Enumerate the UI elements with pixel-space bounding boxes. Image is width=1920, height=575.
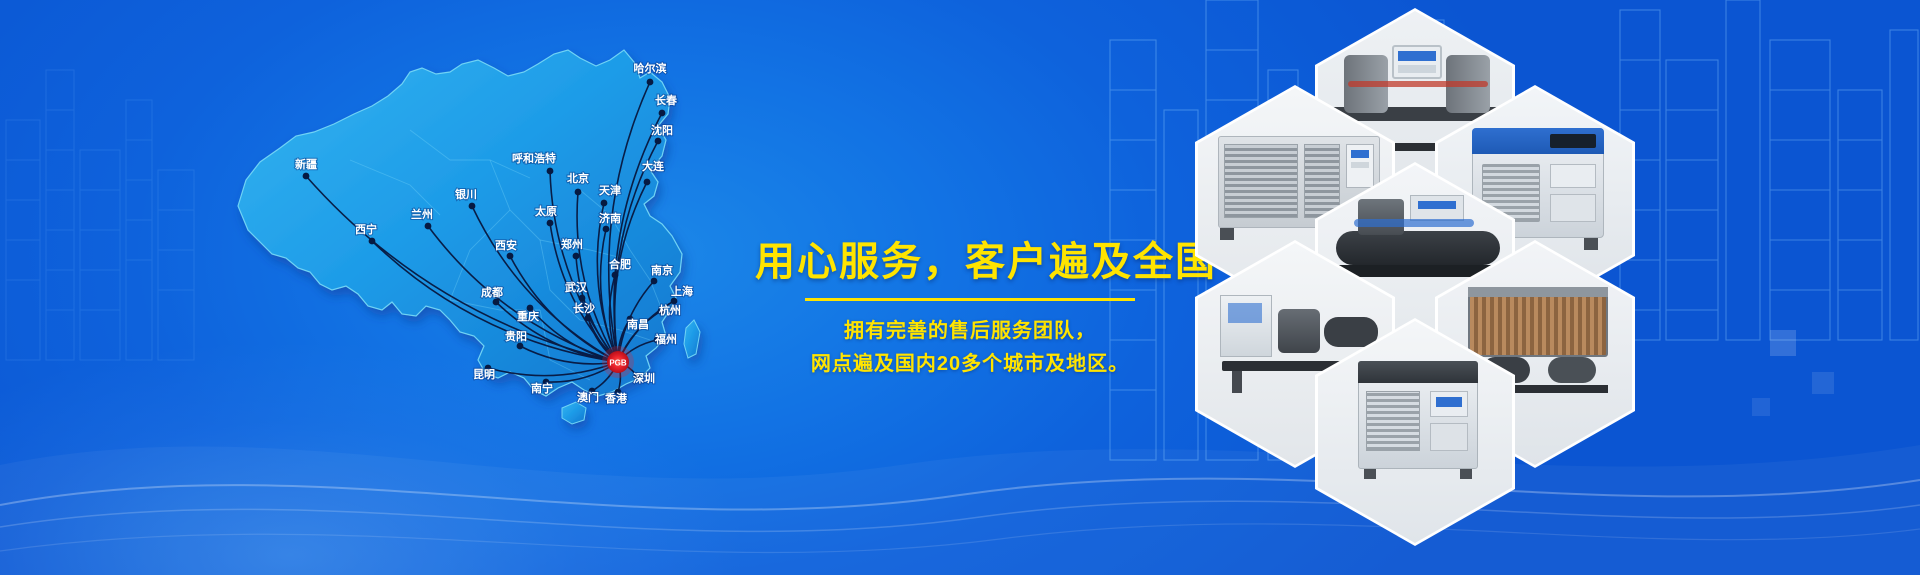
city-label: 南昌 bbox=[627, 317, 649, 331]
city-label: 杭州 bbox=[659, 303, 681, 317]
city-marker[interactable]: 杭州 bbox=[658, 303, 681, 317]
city-dot-icon bbox=[644, 179, 651, 186]
product-hexagon-gallery bbox=[1195, 0, 1915, 575]
china-map: 哈尔滨长春沈阳大连北京天津呼和浩特银川太原济南郑州西安兰州西宁新疆合肥南京武汉上… bbox=[110, 10, 730, 430]
city-label: 呼和浩特 bbox=[512, 151, 556, 165]
city-dot-icon bbox=[425, 223, 432, 230]
city-dot-icon bbox=[579, 295, 586, 302]
city-label: 南京 bbox=[651, 263, 673, 277]
city-dot-icon bbox=[547, 168, 554, 175]
city-label: 天津 bbox=[599, 183, 621, 197]
page-title: 用心服务，客户遍及全国 bbox=[755, 240, 1185, 284]
city-label: 郑州 bbox=[561, 237, 583, 251]
city-dot-icon bbox=[655, 138, 662, 145]
subtitle-line-2: 网点遍及国内20多个城市及地区。 bbox=[755, 348, 1185, 381]
city-marker[interactable]: 福州 bbox=[654, 332, 677, 346]
city-dot-icon bbox=[493, 299, 500, 306]
city-label: 北京 bbox=[567, 171, 589, 185]
city-dot-icon bbox=[647, 79, 654, 86]
city-label: 成都 bbox=[481, 285, 503, 299]
city-dot-icon bbox=[303, 173, 310, 180]
city-label: 西宁 bbox=[355, 222, 377, 236]
city-label: 重庆 bbox=[517, 309, 539, 323]
banner-copy: 用心服务，客户遍及全国 拥有完善的售后服务团队， 网点遍及国内20多个城市及地区… bbox=[755, 240, 1185, 381]
city-label: 福州 bbox=[654, 332, 677, 346]
subtitle-line-1: 拥有完善的售后服务团队， bbox=[755, 315, 1185, 348]
city-marker[interactable]: 上海 bbox=[671, 284, 693, 304]
city-label: 长沙 bbox=[573, 301, 595, 315]
city-marker[interactable]: 深圳 bbox=[633, 371, 655, 385]
city-dot-icon bbox=[469, 203, 476, 210]
city-label: 南宁 bbox=[531, 381, 553, 395]
hub-marker: PGB bbox=[602, 346, 634, 378]
city-dot-icon bbox=[573, 253, 580, 260]
city-dot-icon bbox=[369, 238, 376, 245]
city-label: 长春 bbox=[655, 93, 678, 107]
city-label: 武汉 bbox=[565, 280, 588, 294]
city-dot-icon bbox=[585, 315, 592, 322]
city-dot-icon bbox=[612, 272, 619, 279]
city-dot-icon bbox=[601, 200, 608, 207]
city-label: 大连 bbox=[642, 159, 665, 173]
city-dot-icon bbox=[659, 110, 666, 117]
city-label: 太原 bbox=[534, 204, 557, 218]
title-divider bbox=[805, 298, 1135, 301]
city-label: 兰州 bbox=[411, 207, 433, 221]
city-dot-icon bbox=[671, 298, 678, 305]
city-label: 哈尔滨 bbox=[634, 61, 667, 75]
city-label: 济南 bbox=[599, 211, 621, 225]
city-dot-icon bbox=[517, 343, 524, 350]
city-dot-icon bbox=[507, 253, 514, 260]
city-label: 新疆 bbox=[295, 157, 317, 171]
city-dot-icon bbox=[603, 226, 610, 233]
city-label: 合肥 bbox=[609, 257, 631, 271]
city-label: 西安 bbox=[495, 238, 517, 252]
city-label: 贵阳 bbox=[505, 329, 527, 343]
city-label: 银川 bbox=[455, 187, 477, 201]
service-network-banner: 哈尔滨长春沈阳大连北京天津呼和浩特银川太原济南郑州西安兰州西宁新疆合肥南京武汉上… bbox=[0, 0, 1920, 575]
city-dot-icon bbox=[575, 189, 582, 196]
city-dot-icon bbox=[651, 278, 658, 285]
city-label: 深圳 bbox=[633, 371, 655, 385]
hub-marker-label: PGB bbox=[609, 359, 627, 368]
city-label: 沈阳 bbox=[651, 123, 673, 137]
city-label: 上海 bbox=[671, 284, 693, 298]
city-label: 澳门 bbox=[577, 390, 599, 404]
city-label: 香港 bbox=[604, 391, 628, 405]
city-label: 昆明 bbox=[473, 368, 495, 381]
city-dot-icon bbox=[547, 220, 554, 227]
